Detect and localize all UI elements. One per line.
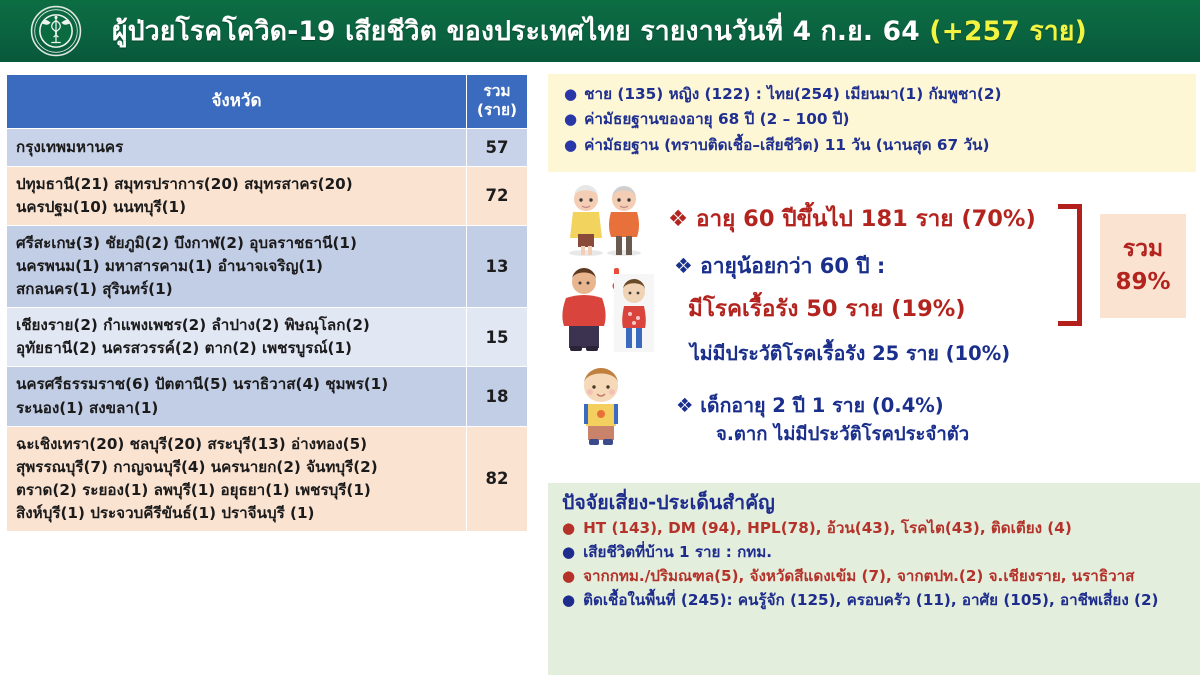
bullet-dot-icon: ● <box>564 112 577 127</box>
risk-bullet-text: เสียชีวิตที่บ้าน 1 ราย : กทม. <box>583 543 772 561</box>
child-illustration <box>566 364 636 448</box>
summary-bullet-text: ค่ามัธยฐานของอายุ 68 ปี (2 – 100 ปี) <box>584 110 849 128</box>
province-line: ปทุมธานี(21) สมุทรปราการ(20) สมุทรสาคร(2… <box>16 173 457 196</box>
page-header: ผู้ป่วยโรคโควิด-19 เสียชีวิต ของประเทศไท… <box>0 0 1200 65</box>
list-item: ● ค่ามัธยฐานของอายุ 68 ปี (2 – 100 ปี) <box>564 110 1186 128</box>
page-title-delta: (+257 ราย) <box>929 16 1087 47</box>
page-title: ผู้ป่วยโรคโควิด-19 เสียชีวิต ของประเทศไท… <box>112 10 1087 52</box>
province-line: สุพรรณบุรี(7) กาญจนบุรี(4) นครนายก(2) จั… <box>16 456 457 479</box>
child-stat-line: ❖ เด็กอายุ 2 ปี 1 ราย (0.4%) <box>676 390 944 421</box>
column-header-total-line1: รวม <box>471 82 523 101</box>
bullet-dot-icon: ● <box>562 521 575 536</box>
province-line: นครปฐม(10) นนทบุรี(1) <box>16 196 457 219</box>
table-cell-provinces: ศรีสะเกษ(3) ชัยภูมิ(2) บึงกาฬ(2) อุบลราช… <box>7 226 467 308</box>
risk-bullet-text: ติดเชื้อในพื้นที่ (245): คนรู้จัก (125),… <box>583 591 1158 609</box>
list-item: ● ค่ามัธยฐาน (ทราบติดเชื้อ–เสียชีวิต) 11… <box>564 136 1186 154</box>
province-line: สกลนคร(1) สุรินทร์(1) <box>16 278 457 301</box>
province-line: ระนอง(1) สงขลา(1) <box>16 397 457 420</box>
province-line: นครศรีธรรมราช(6) ปัตตานี(5) นราธิวาส(4) … <box>16 373 457 396</box>
logo-container <box>0 0 112 64</box>
province-line: ฉะเชิงเทรา(20) ชลบุรี(20) สระบุรี(13) อ่… <box>16 433 457 456</box>
ministry-of-public-health-logo <box>30 5 82 57</box>
risk-bullet-text: จากกทม./ปริมณฑล(5), จังหวัดสีแดงเข้ม (7)… <box>583 567 1134 585</box>
province-table-container: จังหวัด รวม (ราย) กรุงเทพมหานคร57ปทุมธาน… <box>6 74 527 669</box>
page-title-main: ผู้ป่วยโรคโควิด-19 เสียชีวิต ของประเทศไท… <box>112 16 920 47</box>
table-cell-provinces: ฉะเชิงเทรา(20) ชลบุรี(20) สระบุรี(13) อ่… <box>7 426 467 531</box>
risk-factors-list: ●HT (143), DM (94), HPL(78), อ้วน(43), โ… <box>562 519 1195 608</box>
combined-total-badge: รวม 89% <box>1100 214 1186 318</box>
bullet-dot-icon: ● <box>564 138 577 153</box>
chronic-disease-stat-line: มีโรคเรื้อรัง 50 ราย (19%) <box>688 290 966 326</box>
table-cell-provinces: เชียงราย(2) กำแพงเพชร(2) ลำปาง(2) พิษณุโ… <box>7 308 467 367</box>
table-cell-total: 18 <box>467 367 528 426</box>
elderly-stat-line: ❖ อายุ 60 ปีขึ้นไป 181 ราย (70%) <box>668 200 1036 236</box>
province-line: สิงห์บุรี(1) ประจวบคีรีขันธ์(1) ปราจีนบุ… <box>16 502 457 525</box>
right-column: ● ชาย (135) หญิง (122) : ไทย(254) เมียนม… <box>545 74 1200 675</box>
infographic-root: ผู้ป่วยโรคโควิด-19 เสียชีวิต ของประเทศไท… <box>0 0 1200 675</box>
table-row: กรุงเทพมหานคร57 <box>7 128 528 166</box>
province-line: ตราด(2) ระยอง(1) ลพบุรี(1) อยุธยา(1) เพช… <box>16 479 457 502</box>
province-table-body: กรุงเทพมหานคร57ปทุมธานี(21) สมุทรปราการ(… <box>7 128 528 531</box>
table-row: เชียงราย(2) กำแพงเพชร(2) ลำปาง(2) พิษณุโ… <box>7 308 528 367</box>
table-cell-total: 13 <box>467 226 528 308</box>
province-line: อุทัยธานี(2) นครสวรรค์(2) ตาก(2) เพชรบูร… <box>16 337 457 360</box>
table-header-row: จังหวัด รวม (ราย) <box>7 75 528 129</box>
table-cell-total: 82 <box>467 426 528 531</box>
province-line: กรุงเทพมหานคร <box>16 136 457 159</box>
list-item: ● ชาย (135) หญิง (122) : ไทย(254) เมียนม… <box>564 85 1186 103</box>
province-line: นครพนม(1) มหาสารคาม(1) อำนาจเจริญ(1) <box>16 255 457 278</box>
table-cell-total: 15 <box>467 308 528 367</box>
bullet-dot-icon: ● <box>562 569 575 584</box>
risk-factors-box: ปัจจัยเสี่ยง-ประเด็นสำคัญ ●HT (143), DM … <box>548 483 1200 675</box>
right-brace-bracket-icon <box>1058 204 1082 326</box>
table-row: ปทุมธานี(21) สมุทรปราการ(20) สมุทรสาคร(2… <box>7 166 528 225</box>
bullet-dot-icon: ● <box>564 87 577 102</box>
list-item: ●ติดเชื้อในพื้นที่ (245): คนรู้จัก (125)… <box>562 591 1195 609</box>
table-row: นครศรีธรรมราช(6) ปัตตานี(5) นราธิวาส(4) … <box>7 367 528 426</box>
elderly-couple-illustration <box>556 182 654 260</box>
under60-stat-line: ❖ อายุน้อยกว่า 60 ปี : <box>674 250 885 283</box>
table-row: ฉะเชิงเทรา(20) ชลบุรี(20) สระบุรี(13) อ่… <box>7 426 528 531</box>
province-table: จังหวัด รวม (ราย) กรุงเทพมหานคร57ปทุมธาน… <box>6 74 528 532</box>
risk-factors-title: ปัจจัยเสี่ยง-ประเด็นสำคัญ <box>562 492 1195 514</box>
table-cell-total: 72 <box>467 166 528 225</box>
summary-bullet-text: ค่ามัธยฐาน (ทราบติดเชื้อ–เสียชีวิต) 11 ว… <box>584 136 989 154</box>
column-header-total-line2: (ราย) <box>471 101 523 120</box>
table-row: ศรีสะเกษ(3) ชัยภูมิ(2) บึงกาฬ(2) อุบลราช… <box>7 226 528 308</box>
combined-total-value: 89% <box>1115 266 1170 299</box>
table-cell-provinces: นครศรีธรรมราช(6) ปัตตานี(5) นราธิวาส(4) … <box>7 367 467 426</box>
no-chronic-disease-stat-line: ไม่มีประวัติโรคเรื้อรัง 25 ราย (10%) <box>690 338 1010 369</box>
list-item: ●เสียชีวิตที่บ้าน 1 ราย : กทม. <box>562 543 1195 561</box>
summary-bullet-text: ชาย (135) หญิง (122) : ไทย(254) เมียนมา(… <box>584 85 1001 103</box>
demographics-summary-box: ● ชาย (135) หญิง (122) : ไทย(254) เมียนม… <box>548 74 1196 172</box>
list-item: ●HT (143), DM (94), HPL(78), อ้วน(43), โ… <box>562 519 1195 537</box>
table-cell-total: 57 <box>467 128 528 166</box>
column-header-province: จังหวัด <box>7 75 467 129</box>
overweight-adults-illustration <box>554 266 658 352</box>
child-stat-subline: จ.ตาก ไม่มีประวัติโรคประจำตัว <box>716 420 969 449</box>
column-header-total: รวม (ราย) <box>467 75 528 129</box>
combined-total-label: รวม <box>1123 233 1163 266</box>
province-line: ศรีสะเกษ(3) ชัยภูมิ(2) บึงกาฬ(2) อุบลราช… <box>16 232 457 255</box>
bullet-dot-icon: ● <box>562 545 575 560</box>
table-cell-provinces: ปทุมธานี(21) สมุทรปราการ(20) สมุทรสาคร(2… <box>7 166 467 225</box>
table-cell-provinces: กรุงเทพมหานคร <box>7 128 467 166</box>
bullet-dot-icon: ● <box>562 593 575 608</box>
province-line: เชียงราย(2) กำแพงเพชร(2) ลำปาง(2) พิษณุโ… <box>16 314 457 337</box>
risk-bullet-text: HT (143), DM (94), HPL(78), อ้วน(43), โร… <box>583 519 1072 537</box>
list-item: ●จากกทม./ปริมณฑล(5), จังหวัดสีแดงเข้ม (7… <box>562 567 1195 585</box>
